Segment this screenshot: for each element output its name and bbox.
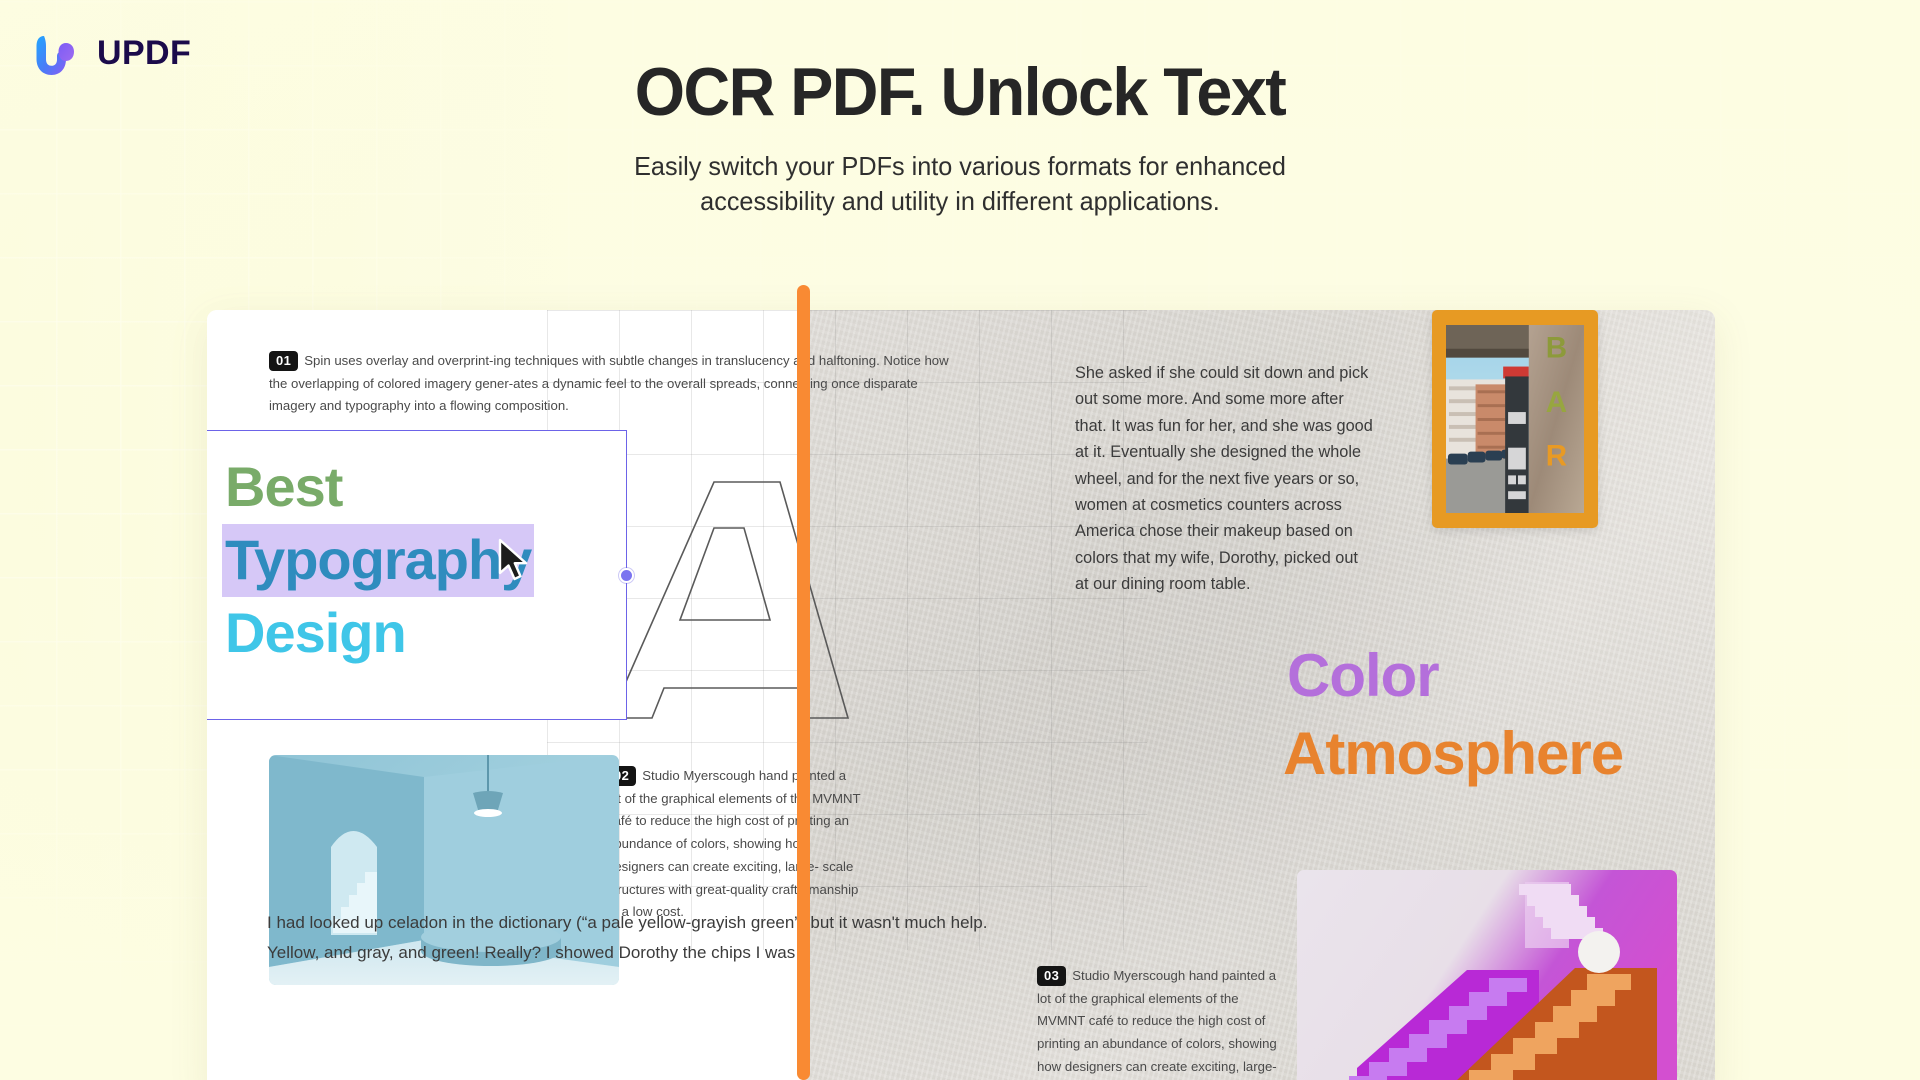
scanned-paragraph-bottom: I had looked up celadon in the dictionar… <box>267 908 1027 969</box>
callout-number: 03 <box>1037 966 1066 986</box>
callout-text: Spin uses overlay and overprint-ing tech… <box>269 353 949 413</box>
selection-handle-right[interactable] <box>619 568 634 583</box>
display-word-atmosphere: Atmosphere <box>1283 718 1623 790</box>
display-word-color: Color <box>1287 640 1623 712</box>
svg-text:B: B <box>1546 332 1567 365</box>
purple-orange-stairs-render <box>1297 870 1677 1080</box>
page-title: OCR PDF. Unlock Text <box>48 58 1872 126</box>
text-selection-box[interactable]: Best Typography Design <box>207 430 627 720</box>
callout-02: 02Studio Myerscough hand painted a lot o… <box>607 765 862 924</box>
callout-03: 03Studio Myerscough hand painted a lot o… <box>1037 965 1287 1080</box>
wireframe-letter-a-icon <box>602 470 852 730</box>
callout-01: 01Spin uses overlay and overprint-ing te… <box>269 350 949 418</box>
document-preview-card[interactable]: 01Spin uses overlay and overprint-ing te… <box>207 310 1715 1080</box>
selected-text-block: Best Typography Design <box>207 431 626 669</box>
display-word-design: Design <box>225 597 626 670</box>
bar-street-photo: B A R <box>1446 325 1584 513</box>
svg-text:R: R <box>1546 439 1567 472</box>
mouse-cursor-icon <box>497 538 531 582</box>
bar-photo-frame: B A R <box>1432 310 1598 528</box>
hero-section: OCR PDF. Unlock Text Easily switch your … <box>0 58 1920 218</box>
scanned-paragraph-right: She asked if she could sit down and pick… <box>1075 360 1375 598</box>
callout-text: Studio Myerscough hand painted a lot of … <box>607 768 860 919</box>
display-word-best: Best <box>225 451 626 524</box>
callout-number: 01 <box>269 351 298 371</box>
ocr-scan-line[interactable] <box>797 285 810 1080</box>
svg-text:A: A <box>1546 386 1567 419</box>
display-word-typography[interactable]: Typography <box>222 524 534 597</box>
page-subtitle: Easily switch your PDFs into various for… <box>572 149 1348 218</box>
callout-text: Studio Myerscough hand painted a lot of … <box>1037 968 1277 1080</box>
color-atmosphere-heading: Color Atmosphere <box>1287 640 1623 790</box>
